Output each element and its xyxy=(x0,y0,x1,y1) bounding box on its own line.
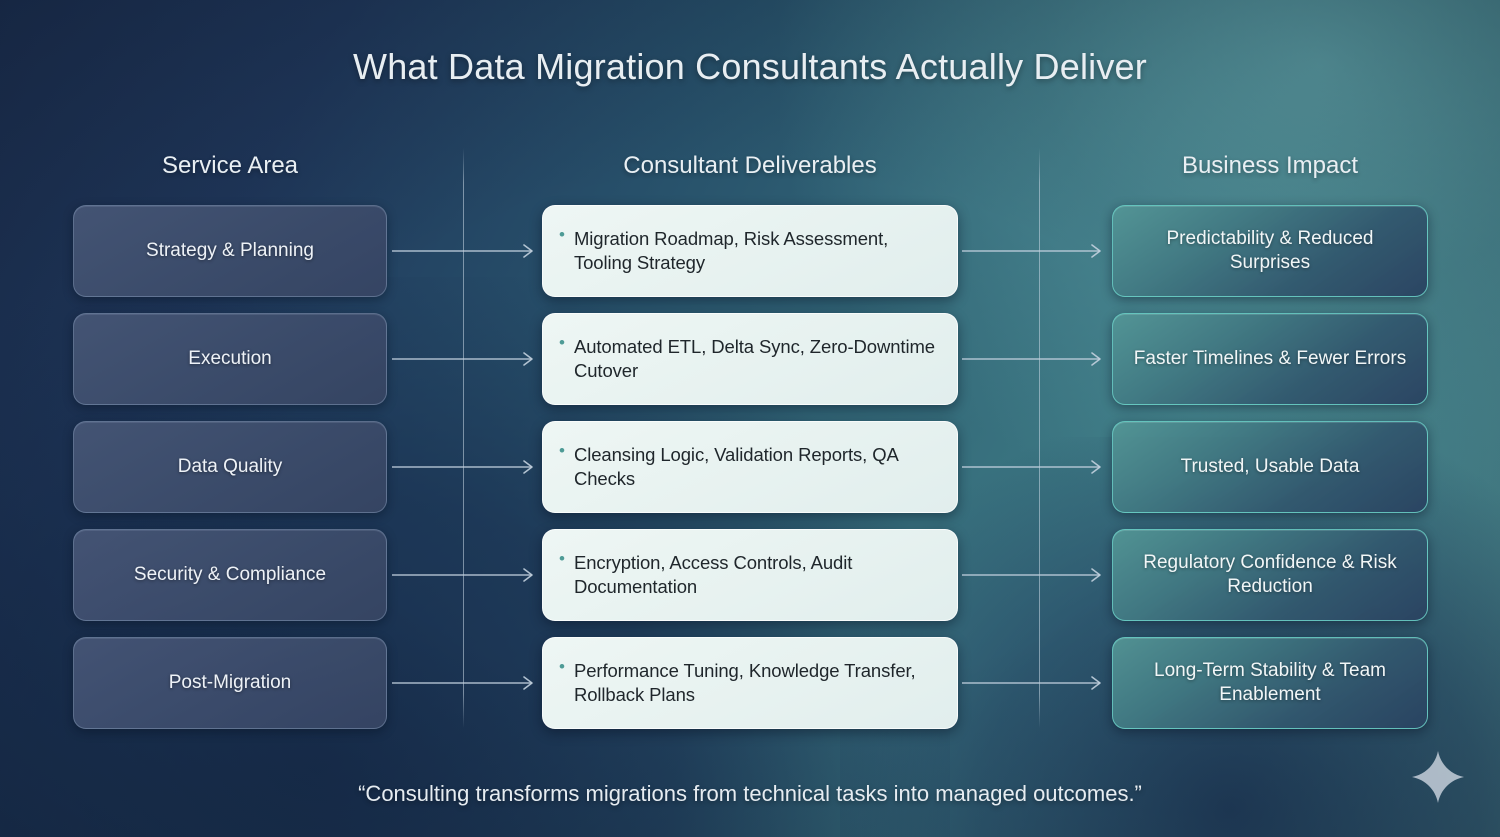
deliverable-label: Encryption, Access Controls, Audit Docum… xyxy=(574,551,939,599)
business-impact-card[interactable]: Trusted, Usable Data xyxy=(1112,421,1428,513)
bullet-icon: • xyxy=(559,528,565,567)
business-impact-card[interactable]: Faster Timelines & Fewer Errors xyxy=(1112,313,1428,405)
business-impact-card[interactable]: Regulatory Confidence & Risk Reduction xyxy=(1112,529,1428,621)
page-title: What Data Migration Consultants Actually… xyxy=(0,46,1500,88)
service-area-label: Execution xyxy=(178,348,281,370)
business-impact-card[interactable]: Predictability & Reduced Surprises xyxy=(1112,205,1428,297)
connector-arrow-right xyxy=(962,567,1108,583)
connector-arrow-left xyxy=(392,459,540,475)
connector-arrow-right xyxy=(962,351,1108,367)
business-impact-label: Trusted, Usable Data xyxy=(1169,455,1372,479)
column-header-service-area: Service Area xyxy=(73,152,387,180)
connector-arrow-left xyxy=(392,675,540,691)
table-row: Security & Compliance • Encryption, Acce… xyxy=(0,529,1500,621)
deliverable-label: Automated ETL, Delta Sync, Zero-Downtime… xyxy=(574,335,939,383)
bullet-icon: • xyxy=(559,204,565,243)
connector-arrow-left xyxy=(392,351,540,367)
service-area-label: Data Quality xyxy=(168,456,293,478)
deliverable-card[interactable]: • Encryption, Access Controls, Audit Doc… xyxy=(542,529,958,621)
connector-arrow-right xyxy=(962,243,1108,259)
service-area-label: Strategy & Planning xyxy=(136,240,324,262)
deliverable-label: Performance Tuning, Knowledge Transfer, … xyxy=(574,659,939,707)
table-row: Strategy & Planning • Migration Roadmap,… xyxy=(0,205,1500,297)
connector-arrow-left xyxy=(392,243,540,259)
deliverable-card[interactable]: • Cleansing Logic, Validation Reports, Q… xyxy=(542,421,958,513)
connector-arrow-left xyxy=(392,567,540,583)
service-area-card[interactable]: Data Quality xyxy=(73,421,387,513)
table-row: Post-Migration • Performance Tuning, Kno… xyxy=(0,637,1500,729)
service-area-label: Post-Migration xyxy=(159,672,302,694)
service-area-card[interactable]: Security & Compliance xyxy=(73,529,387,621)
bullet-icon: • xyxy=(559,636,565,675)
connector-arrow-right xyxy=(962,459,1108,475)
connector-arrow-right xyxy=(962,675,1108,691)
service-area-card[interactable]: Post-Migration xyxy=(73,637,387,729)
deliverable-card[interactable]: • Automated ETL, Delta Sync, Zero-Downti… xyxy=(542,313,958,405)
column-header-business-impact: Business Impact xyxy=(1112,152,1428,180)
business-impact-card[interactable]: Long-Term Stability & Team Enablement xyxy=(1112,637,1428,729)
business-impact-label: Faster Timelines & Fewer Errors xyxy=(1122,347,1418,371)
column-header-deliverables: Consultant Deliverables xyxy=(542,152,958,180)
service-area-label: Security & Compliance xyxy=(124,564,336,586)
table-row: Execution • Automated ETL, Delta Sync, Z… xyxy=(0,313,1500,405)
deliverable-label: Cleansing Logic, Validation Reports, QA … xyxy=(574,443,939,491)
deliverable-label: Migration Roadmap, Risk Assessment, Tool… xyxy=(574,227,939,275)
deliverable-card[interactable]: • Migration Roadmap, Risk Assessment, To… xyxy=(542,205,958,297)
deliverable-card[interactable]: • Performance Tuning, Knowledge Transfer… xyxy=(542,637,958,729)
infographic-canvas: What Data Migration Consultants Actually… xyxy=(0,0,1500,837)
bullet-icon: • xyxy=(559,312,565,351)
footer-quote: “Consulting transforms migrations from t… xyxy=(0,781,1500,807)
service-area-card[interactable]: Execution xyxy=(73,313,387,405)
business-impact-label: Long-Term Stability & Team Enablement xyxy=(1113,659,1427,707)
sparkle-icon xyxy=(1409,748,1467,806)
business-impact-label: Regulatory Confidence & Risk Reduction xyxy=(1113,551,1427,599)
service-area-card[interactable]: Strategy & Planning xyxy=(73,205,387,297)
table-row: Data Quality • Cleansing Logic, Validati… xyxy=(0,421,1500,513)
bullet-icon: • xyxy=(559,420,565,459)
business-impact-label: Predictability & Reduced Surprises xyxy=(1113,227,1427,275)
